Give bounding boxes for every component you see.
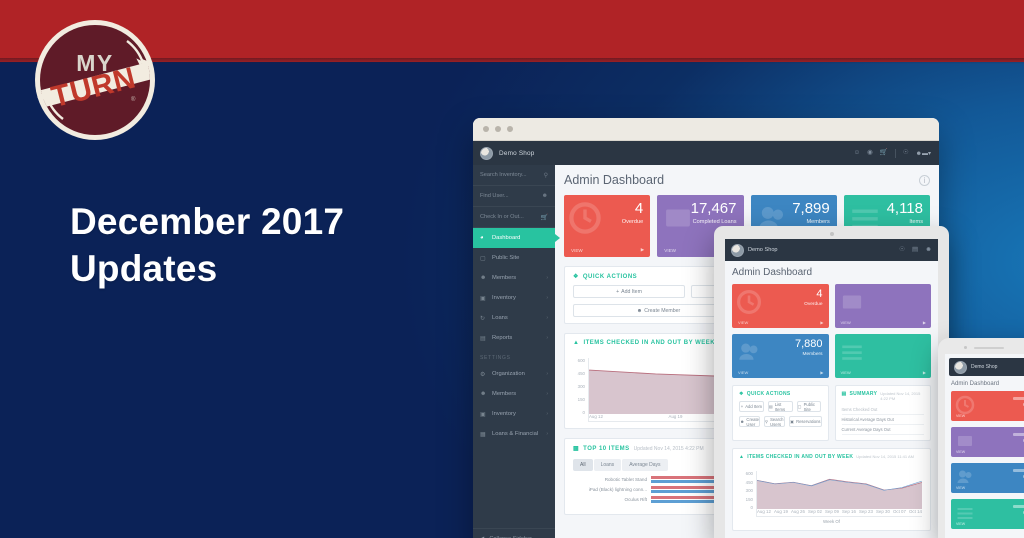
y-tick: 150 (746, 497, 753, 502)
tablet-list-items-button[interactable]: ▤ List Items (768, 401, 793, 412)
search-icon[interactable]: ⚲ (544, 172, 548, 179)
check-in-out-input[interactable]: Check In or Out... 🛒 (473, 207, 555, 228)
tablet-stat-card-items[interactable]: VIEW ▶ (835, 334, 932, 378)
clock-icon (568, 201, 602, 235)
window-dot-icon[interactable] (507, 126, 513, 132)
stat-label: Completed Loans (664, 219, 736, 225)
collapse-sidebar-button[interactable]: ◀ Collapse Sidebar (473, 528, 555, 538)
sidebar-item-settings-members[interactable]: ☻ Members › (473, 384, 555, 404)
sidebar-item-public-site[interactable]: ▢ Public Site (473, 248, 555, 268)
stat-card-overdue[interactable]: 4 Overdue VIEW ▶ (564, 195, 650, 257)
chart-icon: ▤ (480, 335, 487, 342)
chevron-right-icon: › (546, 431, 548, 437)
list-icon: ▤ (769, 404, 773, 409)
sidebar-item-label: Dashboard (492, 235, 520, 241)
users-icon (955, 467, 975, 487)
stat-footer[interactable]: VIEW ▶ (738, 320, 824, 325)
stat-footer[interactable]: VIEW ▶ (841, 320, 927, 325)
bolt-icon: ❖ (739, 391, 744, 397)
tablet-qa-row-2: ☻ Create User ⚲ Search Users ▣ Reservati… (733, 416, 828, 431)
phone-screen: Demo Shop Admin Dashboard VIEW (945, 354, 1024, 538)
y-tick: 600 (578, 358, 585, 363)
more-icon[interactable]: ▶ (923, 320, 926, 325)
sidebar-item-loans[interactable]: ↻ Loans › (473, 308, 555, 328)
x-tick: Aug 19 (669, 414, 683, 421)
phone-dashboard-title: Admin Dashboard (945, 376, 1024, 391)
tab-average-days[interactable]: Average Days (622, 459, 667, 471)
brand-logo-icon (954, 361, 967, 374)
list-icon[interactable]: ▤ (912, 247, 918, 254)
tablet-quick-actions-header: ❖ QUICK ACTIONS (733, 386, 828, 401)
item-label: Oculus Rift (573, 497, 647, 502)
tablet-weekly-chart: 600 450 300 150 0 (733, 464, 930, 530)
y-axis-labels: 600 450 300 150 0 (741, 471, 756, 517)
sidebar-item-label: Loans (492, 315, 508, 321)
brand-logo-icon (731, 244, 744, 257)
sidebar: Search Inventory... ⚲ Find User... ☻ Che… (473, 165, 555, 538)
tablet-body: Admin Dashboard 4 Overdue VIEW ▶ (725, 261, 938, 537)
tablet-chart-plot: Aug 12 Aug 19 Aug 26 Sep 02 Sep 09 Sep 1… (756, 471, 922, 517)
x-tick: Oct 07 (893, 509, 906, 516)
chevron-right-icon: › (546, 411, 548, 417)
phone-mockup: Demo Shop Admin Dashboard VIEW (938, 338, 1024, 538)
tablet-stat-cards: 4 Overdue VIEW ▶ VIE (732, 284, 931, 378)
tablet-summary-updated: Updated Nov 14, 2015 4:22 PM (880, 391, 924, 401)
tablet-chart-updated: Updated Nov 14, 2015 11:41 AM (856, 454, 914, 459)
stat-label: Members (738, 352, 823, 357)
x-tick: Aug 12 (589, 414, 603, 421)
tablet-weekly-chart-panel: ▲ ITEMS CHECKED IN AND OUT BY WEEK Updat… (732, 448, 931, 531)
user-plus-icon: ☻ (740, 419, 744, 424)
phone-stat-card-overdue[interactable]: VIEW (951, 391, 1024, 421)
stat-foot-left: VIEW (738, 320, 748, 325)
area-chart-icon: ▲ (573, 340, 579, 346)
y-tick: 450 (578, 371, 585, 376)
list-icon (955, 503, 975, 523)
tablet-qa-row-1: + Add Item ▤ List Items ▢ Public Site (733, 401, 828, 416)
create-member-label: Create Member (644, 308, 680, 314)
stat-label: Overdue (571, 219, 643, 225)
chevron-right-icon: › (546, 315, 548, 321)
brand-name[interactable]: Demo Shop (499, 150, 535, 157)
find-user-placeholder: Find User... (480, 193, 509, 199)
stat-placeholder (1013, 469, 1024, 478)
top-items-updated: Updated Nov 14, 2015 4:22 PM (634, 446, 704, 452)
sidebar-item-loans-financial[interactable]: ▦ Loans & Financial › (473, 424, 555, 444)
cart-icon[interactable]: 🛒 (880, 150, 888, 157)
plus-icon: + (741, 404, 743, 409)
tab-all[interactable]: All (573, 459, 593, 471)
item-label: Robotic Tablet Stand (573, 477, 647, 482)
y-tick: 300 (578, 384, 585, 389)
dashboard-title: Admin Dashboard i (564, 173, 930, 187)
tablet-create-user-button[interactable]: ☻ Create User (739, 416, 760, 427)
chevron-right-icon: › (546, 335, 548, 341)
loans-icon (839, 289, 865, 315)
tablet-summary-title: SUMMARY (850, 391, 878, 397)
search-inventory-input[interactable]: Search Inventory... ⚲ (473, 165, 555, 186)
tablet-stat-card-overdue[interactable]: 4 Overdue VIEW ▶ (732, 284, 829, 328)
tablet-reservations-button[interactable]: ▣ Reservations (789, 416, 821, 427)
stat-foot-left: VIEW (664, 248, 676, 253)
tablet-panels: ❖ QUICK ACTIONS + Add Item ▤ Li (732, 385, 931, 441)
tablet-dashboard-title: Admin Dashboard (732, 267, 931, 278)
tablet-summary-panel: ▤ SUMMARY Updated Nov 14, 2015 4:22 PM I… (835, 385, 932, 441)
tablet-mockup: Demo Shop ☉ ▤ ☻ Admin Dashboard (714, 226, 949, 538)
registered-mark: ® (131, 96, 136, 103)
sidebar-item-inventory[interactable]: ▣ Inventory › (473, 288, 555, 308)
list-item: Historical Average Days Out (842, 415, 925, 425)
phone-stat-card-members[interactable]: VIEW (951, 463, 1024, 493)
phone-topnav: Demo Shop (949, 358, 1024, 376)
tab-loans[interactable]: Loans (594, 459, 622, 471)
label: Search Users (770, 417, 784, 427)
stat-label: Overdue (738, 302, 823, 307)
add-item-label: Add Item (621, 289, 642, 295)
y-axis-labels: 600 450 300 150 0 (573, 358, 588, 422)
list-item: Items Checked Out (842, 405, 925, 415)
box-icon: ▣ (480, 295, 487, 302)
quick-actions-title: QUICK ACTIONS (583, 274, 637, 280)
tablet-chart-header: ▲ ITEMS CHECKED IN AND OUT BY WEEK Updat… (733, 449, 930, 464)
add-item-button[interactable]: + Add Item (573, 285, 685, 298)
account-icon[interactable]: ☻ (925, 247, 932, 254)
headline-line-2: Updates (70, 245, 344, 292)
label: Public Site (804, 402, 821, 412)
wrench-icon: ⚙ (480, 371, 487, 378)
stat-foot-left: VIEW (956, 486, 965, 490)
stat-foot-left: VIEW (841, 320, 851, 325)
x-tick: Aug 26 (791, 509, 805, 516)
y-tick: 450 (746, 480, 753, 485)
stat-label: Members (758, 219, 830, 225)
x-tick: Aug 12 (757, 509, 771, 516)
camera-icon (964, 346, 967, 349)
bell-icon[interactable]: ☉ (899, 247, 905, 254)
x-tick: Sep 16 (842, 509, 856, 516)
users-icon: ☻ (480, 275, 487, 281)
label: Create User (746, 417, 759, 427)
sidebar-item-reports[interactable]: ▤ Reports › (473, 328, 555, 348)
x-tick: Sep 23 (859, 509, 873, 516)
stat-foot-left: VIEW (956, 414, 965, 418)
sidebar-item-label: Public Site (492, 255, 519, 261)
tablet-search-users-button[interactable]: ⚲ Search Users (764, 416, 785, 427)
stat-placeholder (1013, 505, 1024, 514)
clock-icon (955, 395, 975, 415)
chevron-right-icon: › (546, 371, 548, 377)
list-icon (839, 339, 865, 365)
stat-foot-left: VIEW (571, 248, 583, 253)
find-user-input[interactable]: Find User... ☻ (473, 186, 555, 207)
list-icon: ▤ (842, 391, 847, 397)
cart-icon[interactable]: 🛒 (541, 214, 548, 221)
account-icon[interactable]: ☻▬▾ (916, 150, 931, 157)
sidebar-item-label: Inventory (492, 411, 516, 417)
y-tick: 300 (746, 488, 753, 493)
nav-divider (895, 149, 896, 158)
gauge-icon: ◕ (480, 235, 487, 241)
app-topnav: Demo Shop ☺ ◉ 🛒 ☉ ☻▬▾ (473, 141, 939, 165)
phone-stat-card-items[interactable]: VIEW (951, 499, 1024, 529)
browser-chrome (473, 118, 939, 141)
tablet-summary-rows: Items Checked Out Historical Average Day… (836, 405, 931, 440)
loans-icon (955, 431, 975, 451)
tablet-quick-actions-panel: ❖ QUICK ACTIONS + Add Item ▤ Li (732, 385, 829, 441)
brand-name[interactable]: Demo Shop (971, 364, 997, 370)
x-axis-title: Week Of (741, 519, 922, 524)
globe-icon: ▢ (798, 404, 802, 409)
sidebar-item-organization[interactable]: ⚙ Organization › (473, 364, 555, 384)
window-dot-icon[interactable] (483, 126, 489, 132)
camera-icon (830, 232, 834, 236)
brand-name[interactable]: Demo Shop (748, 247, 778, 253)
stat-foot-left: VIEW (956, 450, 965, 454)
tablet-screen: Demo Shop ☉ ▤ ☻ Admin Dashboard (725, 239, 938, 538)
calendar-icon: ▣ (790, 419, 794, 424)
x-tick: Sep 09 (825, 509, 839, 516)
y-tick: 600 (746, 471, 753, 476)
sidebar-item-label: Reports (492, 335, 512, 341)
chevron-right-icon: › (546, 295, 548, 301)
user-plus-icon: ☻ (637, 308, 642, 314)
y-tick: 150 (578, 397, 585, 402)
x-tick: Sep 30 (876, 509, 890, 516)
y-tick: 0 (751, 505, 753, 510)
area-chart-icon: ▲ (739, 454, 744, 460)
sidebar-item-members[interactable]: ☻ Members › (473, 268, 555, 288)
stat-placeholder (1013, 433, 1024, 442)
y-tick: 0 (583, 410, 585, 415)
stat-foot-left: VIEW (738, 370, 748, 375)
bell-icon[interactable]: ☉ (903, 150, 909, 157)
more-icon[interactable]: ▶ (820, 320, 823, 325)
list-item: Current Average Days Out (842, 425, 925, 435)
label: Add Item (745, 404, 762, 409)
bar-chart-icon: ▩ (573, 445, 579, 452)
card-icon: ▦ (480, 431, 487, 438)
chevron-right-icon: › (546, 391, 548, 397)
phone-stat-card-completed-loans[interactable]: VIEW (951, 427, 1024, 457)
tablet-topnav: Demo Shop ☉ ▤ ☻ (725, 239, 938, 261)
info-icon[interactable]: i (919, 175, 930, 186)
sidebar-item-settings-inventory[interactable]: ▣ Inventory › (473, 404, 555, 424)
sidebar-item-label: Members (492, 391, 516, 397)
banner-stage: MY TURN ® December 2017 Updates Demo Sho… (0, 0, 1024, 538)
bolt-icon: ❖ (573, 273, 579, 280)
tablet-public-site-button[interactable]: ▢ Public Site (797, 401, 822, 412)
x-axis-labels: Aug 12 Aug 19 Aug 26 Sep 02 Sep 09 Sep 1… (757, 509, 922, 516)
tablet-add-item-button[interactable]: + Add Item (739, 401, 764, 412)
myturn-logo: MY TURN ® (30, 15, 160, 145)
plus-icon: + (616, 289, 619, 295)
label: Reservations (796, 419, 820, 424)
stat-footer[interactable]: VIEW ▶ (738, 370, 824, 375)
sidebar-item-dashboard[interactable]: ◕ Dashboard (473, 228, 555, 248)
dashboard-title-text: Admin Dashboard (564, 173, 664, 187)
tablet-stat-card-completed-loans[interactable]: VIEW ▶ (835, 284, 932, 328)
user-add-icon[interactable]: ☺ (853, 150, 860, 157)
item-label: iPad (Black) lightning conn... (573, 487, 647, 492)
stat-label: Items (851, 219, 923, 225)
brand-logo-icon (480, 147, 493, 160)
stat-foot-left: VIEW (841, 370, 851, 375)
top-items-title: TOP 10 ITEMS (583, 446, 629, 452)
page-title: December 2017 Updates (70, 198, 344, 293)
clock-icon[interactable]: ◉ (867, 150, 873, 157)
sidebar-item-label: Inventory (492, 295, 516, 301)
headline-line-1: December 2017 (70, 198, 344, 245)
stat-footer[interactable]: VIEW ▶ (841, 370, 927, 375)
search-users-icon: ⚲ (765, 419, 768, 424)
tablet-topnav-icons: ☉ ▤ ☻ (899, 247, 932, 254)
check-in-out-placeholder: Check In or Out... (480, 214, 524, 220)
tablet-chart-title: ITEMS CHECKED IN AND OUT BY WEEK (747, 454, 853, 460)
window-dot-icon[interactable] (495, 126, 501, 132)
topnav-icons: ☺ ◉ 🛒 ☉ ☻▬▾ (853, 149, 931, 158)
refresh-icon: ↻ (480, 315, 487, 322)
label: List Items (775, 402, 792, 412)
stat-placeholder (1013, 397, 1024, 406)
box-icon: ▣ (480, 411, 487, 418)
more-icon[interactable]: ▶ (641, 247, 645, 253)
tablet-quick-actions-title: QUICK ACTIONS (747, 391, 791, 397)
more-icon[interactable]: ▶ (923, 370, 926, 375)
stat-footer[interactable]: VIEW ▶ (571, 247, 644, 253)
tablet-stat-card-members[interactable]: 7,880 Members VIEW ▶ (732, 334, 829, 378)
stat-foot-left: VIEW (956, 522, 965, 526)
sidebar-item-label: Loans & Financial (492, 431, 538, 437)
users-icon: ☻ (480, 391, 487, 397)
loans-icon (661, 201, 695, 235)
sidebar-item-label: Members (492, 275, 516, 281)
more-icon[interactable]: ▶ (820, 370, 823, 375)
speaker-icon (974, 347, 1004, 349)
sidebar-item-label: Organization (492, 371, 525, 377)
tablet-summary-header: ▤ SUMMARY Updated Nov 14, 2015 4:22 PM (836, 386, 931, 405)
search-inventory-placeholder: Search Inventory... (480, 172, 527, 178)
globe-icon: ▢ (480, 255, 487, 262)
sidebar-section-settings: SETTINGS (473, 348, 555, 364)
user-icon[interactable]: ☻ (542, 193, 548, 199)
x-tick: Aug 19 (774, 509, 788, 516)
chevron-right-icon: › (546, 275, 548, 281)
x-tick: Oct 14 (909, 509, 922, 516)
x-tick: Sep 02 (808, 509, 822, 516)
weekly-chart-title: ITEMS CHECKED IN AND OUT BY WEEK (583, 340, 715, 346)
